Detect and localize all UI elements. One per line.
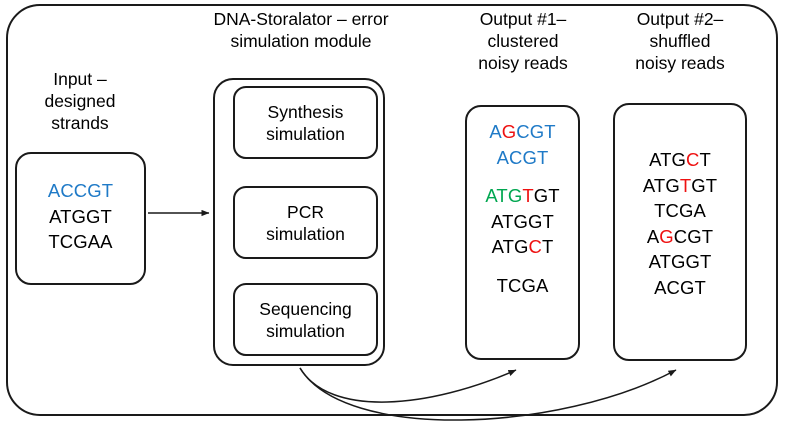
step-synthesis-simulation[interactable]: Synthesis simulation	[233, 86, 378, 159]
seq-segment: ACGT	[497, 147, 549, 168]
step-synthesis-label: Synthesis simulation	[266, 101, 345, 145]
input-strand: ATGGT	[17, 204, 144, 230]
seq-segment: TCGAA	[48, 231, 112, 252]
seq-segment: CGT	[674, 226, 713, 247]
seq-segment: TCGA	[497, 275, 549, 296]
seq-segment: C	[529, 236, 542, 257]
seq-segment: TCGA	[654, 200, 706, 221]
seq-segment: G	[659, 226, 674, 247]
module-caption: DNA-Storalator – error simulation module	[185, 8, 417, 52]
seq-segment: ATG	[485, 185, 522, 206]
seq-segment: T	[700, 149, 711, 170]
output1-read: TCGA	[467, 273, 578, 299]
seq-segment: G	[502, 121, 517, 142]
seq-segment: GT	[691, 175, 717, 196]
output1-reads-box: AGCGTACGTATGTGTATGGTATGCTTCGA	[465, 105, 580, 360]
seq-segment: ATGGT	[649, 251, 712, 272]
seq-segment: ATG	[643, 175, 680, 196]
output2-read: ACGT	[615, 275, 745, 301]
seq-segment: ATGGT	[491, 211, 554, 232]
output1-read: ATGGT	[467, 209, 578, 235]
input-strands-box: ACCGTATGGTTCGAA	[15, 152, 146, 285]
step-sequencing-label: Sequencing simulation	[259, 298, 351, 342]
input-strand: ACCGT	[17, 178, 144, 204]
seq-segment: T	[542, 236, 553, 257]
output1-read: ACGT	[467, 145, 578, 171]
input-strand: TCGAA	[17, 229, 144, 255]
output2-read: ATGCT	[615, 147, 745, 173]
output1-read: ATGCT	[467, 234, 578, 260]
seq-segment: CGT	[516, 121, 555, 142]
cluster-separator	[467, 170, 578, 183]
seq-segment: ATGGT	[49, 206, 112, 227]
step-pcr-simulation[interactable]: PCR simulation	[233, 186, 378, 259]
output1-caption: Output #1– clustered noisy reads	[452, 8, 594, 74]
input-strand-list: ACCGTATGGTTCGAA	[17, 178, 144, 255]
seq-segment: T	[522, 185, 533, 206]
output2-read: TCGA	[615, 198, 745, 224]
step-pcr-label: PCR simulation	[266, 201, 345, 245]
output1-read: ATGTGT	[467, 183, 578, 209]
cluster-separator	[467, 260, 578, 273]
seq-segment: ACCGT	[48, 180, 113, 201]
input-caption: Input – designed strands	[14, 68, 146, 134]
output2-read: ATGGT	[615, 249, 745, 275]
output1-read: AGCGT	[467, 119, 578, 145]
figure-canvas: Input – designed strands ACCGTATGGTTCGAA…	[0, 0, 786, 427]
seq-segment: ATG	[492, 236, 529, 257]
output2-read: AGCGT	[615, 224, 745, 250]
seq-segment: A	[647, 226, 659, 247]
seq-segment: ATG	[649, 149, 686, 170]
output2-reads-box: ATGCTATGTGTTCGAAGCGTATGGTACGT	[613, 103, 747, 361]
step-sequencing-simulation[interactable]: Sequencing simulation	[233, 283, 378, 356]
output2-read: ATGTGT	[615, 173, 745, 199]
output2-read-list: ATGCTATGTGTTCGAAGCGTATGGTACGT	[615, 147, 745, 300]
seq-segment: ACGT	[654, 277, 706, 298]
output2-caption: Output #2– shuffled noisy reads	[609, 8, 751, 74]
output1-read-list: AGCGTACGTATGTGTATGGTATGCTTCGA	[467, 119, 578, 298]
seq-segment: GT	[534, 185, 560, 206]
seq-segment: T	[680, 175, 691, 196]
seq-segment: C	[686, 149, 699, 170]
seq-segment: A	[489, 121, 501, 142]
